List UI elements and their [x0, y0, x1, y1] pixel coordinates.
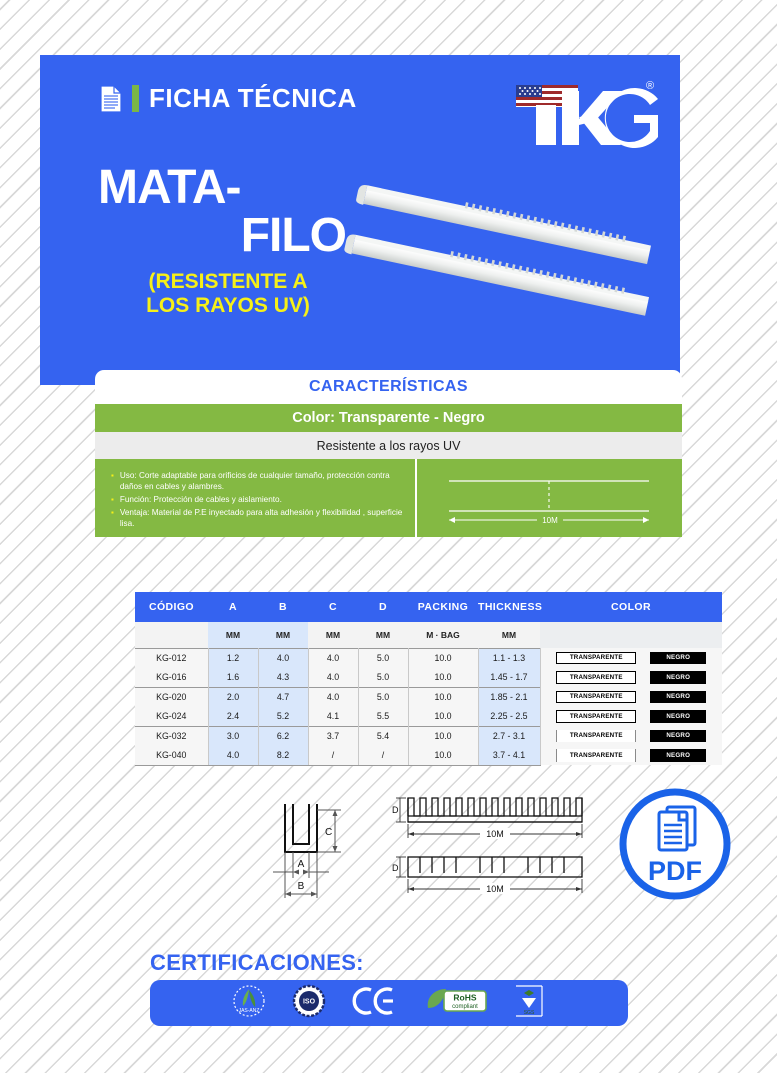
cell-b: 5.2 [258, 707, 308, 727]
cell-b: 8.2 [258, 746, 308, 766]
profile-diagram-bottom: D 10M [380, 847, 610, 907]
certifications-bar: JAS-ANZ ISO RoHS compliant [150, 980, 628, 1026]
cell-thickness: 1.45 - 1.7 [478, 668, 540, 688]
col-header-d: D [358, 592, 408, 622]
cell-codigo: KG-020 [135, 687, 208, 707]
cell-b: 4.3 [258, 668, 308, 688]
hero-section: FICHA TÉCNICA [40, 55, 680, 385]
list-item: ▪ Ventaja: Material de P.E inyectado par… [111, 507, 405, 530]
rohs-label-top: RoHS [453, 992, 476, 1002]
svg-text:JAS-ANZ: JAS-ANZ [239, 1008, 260, 1014]
cross-section-diagram: C A B [265, 790, 375, 910]
cell-d: 5.0 [358, 668, 408, 688]
label-a: A [298, 859, 305, 870]
unit-color [540, 622, 722, 648]
cell-codigo: KG-040 [135, 746, 208, 766]
cell-a: 1.6 [208, 668, 258, 688]
label-length: 10M [486, 884, 504, 894]
col-header-b: B [258, 592, 308, 622]
jas-anz-icon: JAS-ANZ [232, 984, 266, 1023]
cell-b: 4.7 [258, 687, 308, 707]
badge-transparente: TRANSPARENTE [556, 671, 636, 684]
cell-c: / [308, 746, 358, 766]
list-item: ▪ Uso: Corte adaptable para orificios de… [111, 470, 405, 493]
col-header-color: COLOR [540, 592, 722, 622]
cell-a: 2.4 [208, 707, 258, 727]
cell-packing: 10.0 [408, 746, 478, 766]
badge-negro: NEGRO [650, 749, 706, 762]
specs-table-wrapper: CÓDIGO A B C D PACKING THICKNESS COLOR M… [135, 592, 722, 766]
cell-b: 4.0 [258, 648, 308, 668]
cell-d: / [358, 746, 408, 766]
cell-d: 5.0 [358, 648, 408, 668]
feature-text: Ventaja: Material de P.E inyectado para … [120, 507, 405, 530]
profile-diagram-top: D 10M [380, 790, 610, 850]
product-title-line1: MATA- [98, 165, 368, 211]
label-d: D [392, 863, 399, 873]
cell-c: 4.0 [308, 687, 358, 707]
cell-color: TRANSPARENTE NEGRO [540, 746, 722, 766]
cell-a: 1.2 [208, 648, 258, 668]
length-diagram: 10M [417, 459, 682, 537]
product-title-line2: FILO [98, 213, 368, 259]
cell-color: TRANSPARENTE NEGRO [540, 726, 722, 746]
cell-color: TRANSPARENTE NEGRO [540, 707, 722, 727]
cell-color: TRANSPARENTE NEGRO [540, 687, 722, 707]
bullet-icon: ▪ [111, 507, 114, 530]
product-title-block: MATA- FILO (RESISTENTE A LOS RAYOS UV) [98, 165, 368, 317]
header-row: FICHA TÉCNICA [100, 83, 357, 114]
badge-transparente: TRANSPARENTE [556, 749, 636, 762]
table-row: KG-040 4.0 8.2 / / 10.0 3.7 - 4.1 TRANSP… [135, 746, 722, 766]
cell-packing: 10.0 [408, 668, 478, 688]
cell-thickness: 2.25 - 2.5 [478, 707, 540, 727]
tkg-logo: ® [500, 75, 660, 155]
cell-codigo: KG-032 [135, 726, 208, 746]
iso-icon: ISO [292, 984, 326, 1023]
unit-c: MM [308, 622, 358, 648]
caracteristicas-body: ▪ Uso: Corte adaptable para orificios de… [95, 459, 682, 537]
table-group-3: KG-032 3.0 6.2 3.7 5.4 10.0 2.7 - 3.1 TR… [135, 726, 722, 765]
caracteristicas-section: CARACTERÍSTICAS Color: Transparente - Ne… [95, 370, 682, 537]
sheet-type-label: FICHA TÉCNICA [149, 83, 357, 114]
bullet-icon: ▪ [111, 470, 114, 493]
unit-d: MM [358, 622, 408, 648]
cell-thickness: 2.7 - 3.1 [478, 726, 540, 746]
cell-packing: 10.0 [408, 726, 478, 746]
technical-diagrams: C A B [135, 785, 722, 915]
cell-c: 3.7 [308, 726, 358, 746]
cell-c: 4.0 [308, 668, 358, 688]
svg-text:®: ® [646, 80, 654, 92]
diagram-length-label: 10M [542, 516, 558, 525]
units-row: MM MM MM MM M · BAG MM [135, 622, 722, 648]
cell-a: 4.0 [208, 746, 258, 766]
cell-c: 4.0 [308, 648, 358, 668]
col-header-packing: PACKING [408, 592, 478, 622]
unit-a: MM [208, 622, 258, 648]
color-band: Color: Transparente - Negro [95, 404, 682, 432]
label-d: D [392, 805, 399, 815]
badge-transparente: TRANSPARENTE [556, 710, 636, 723]
table-header-row: CÓDIGO A B C D PACKING THICKNESS COLOR [135, 592, 722, 622]
cell-thickness: 1.85 - 2.1 [478, 687, 540, 707]
cell-codigo: KG-012 [135, 648, 208, 668]
quality-check-icon: SGS [514, 984, 546, 1023]
unit-packing: M · BAG [408, 622, 478, 648]
cell-packing: 10.0 [408, 687, 478, 707]
ce-icon [352, 984, 398, 1023]
cell-d: 5.4 [358, 726, 408, 746]
product-subtitle-line1: (RESISTENTE A [98, 270, 368, 294]
cell-c: 4.1 [308, 707, 358, 727]
cell-d: 5.0 [358, 687, 408, 707]
badge-negro: NEGRO [650, 671, 706, 684]
svg-text:SGS: SGS [524, 1010, 535, 1016]
pdf-download-badge[interactable]: PDF [615, 785, 735, 903]
table-row: KG-024 2.4 5.2 4.1 5.5 10.0 2.25 - 2.5 T… [135, 707, 722, 727]
badge-negro: NEGRO [650, 652, 706, 665]
cell-thickness: 3.7 - 4.1 [478, 746, 540, 766]
badge-negro: NEGRO [650, 691, 706, 704]
table-row: KG-032 3.0 6.2 3.7 5.4 10.0 2.7 - 3.1 TR… [135, 726, 722, 746]
col-header-c: C [308, 592, 358, 622]
datasheet-page: FICHA TÉCNICA [40, 55, 737, 1045]
label-c: C [325, 827, 332, 838]
cell-d: 5.5 [358, 707, 408, 727]
feature-text: Uso: Corte adaptable para orificios de c… [120, 470, 405, 493]
unit-b: MM [258, 622, 308, 648]
specs-table: CÓDIGO A B C D PACKING THICKNESS COLOR M… [135, 592, 722, 766]
table-group-1: KG-012 1.2 4.0 4.0 5.0 10.0 1.1 - 1.3 TR… [135, 648, 722, 687]
cell-packing: 10.0 [408, 707, 478, 727]
pdf-document-icon [659, 807, 695, 850]
cell-color: TRANSPARENTE NEGRO [540, 668, 722, 688]
label-b: B [298, 881, 305, 892]
badge-transparente: TRANSPARENTE [556, 691, 636, 704]
accent-bar [132, 85, 139, 112]
cell-a: 3.0 [208, 726, 258, 746]
table-row: KG-020 2.0 4.7 4.0 5.0 10.0 1.85 - 2.1 T… [135, 687, 722, 707]
label-length: 10M [486, 829, 504, 839]
cell-b: 6.2 [258, 726, 308, 746]
badge-transparente: TRANSPARENTE [556, 730, 636, 743]
col-header-thickness: THICKNESS [478, 592, 540, 622]
pdf-label: PDF [648, 856, 702, 886]
document-icon [100, 85, 122, 113]
table-row: KG-016 1.6 4.3 4.0 5.0 10.0 1.45 - 1.7 T… [135, 668, 722, 688]
rohs-label-bottom: compliant [452, 1004, 478, 1010]
product-photo [340, 175, 670, 350]
table-units-row: MM MM MM MM M · BAG MM [135, 622, 722, 648]
cell-a: 2.0 [208, 687, 258, 707]
product-subtitle-line2: LOS RAYOS UV) [98, 294, 368, 318]
badge-negro: NEGRO [650, 710, 706, 723]
feature-text: Función: Protección de cables y aislamie… [120, 494, 282, 506]
col-header-codigo: CÓDIGO [135, 592, 208, 622]
svg-text:ISO: ISO [303, 998, 316, 1005]
unit-codigo [135, 622, 208, 648]
table-head: CÓDIGO A B C D PACKING THICKNESS COLOR [135, 592, 722, 622]
cell-packing: 10.0 [408, 648, 478, 668]
badge-transparente: TRANSPARENTE [556, 652, 636, 665]
list-item: ▪ Función: Protección de cables y aislam… [111, 494, 405, 506]
bullet-icon: ▪ [111, 494, 114, 506]
table-group-2: KG-020 2.0 4.7 4.0 5.0 10.0 1.85 - 2.1 T… [135, 687, 722, 726]
uv-band: Resistente a los rayos UV [95, 432, 682, 459]
certifications-title: CERTIFICACIONES: [150, 950, 364, 976]
cell-codigo: KG-016 [135, 668, 208, 688]
cell-codigo: KG-024 [135, 707, 208, 727]
cell-thickness: 1.1 - 1.3 [478, 648, 540, 668]
rohs-icon: RoHS compliant [424, 986, 488, 1021]
caracteristicas-heading: CARACTERÍSTICAS [95, 370, 682, 404]
table-row: KG-012 1.2 4.0 4.0 5.0 10.0 1.1 - 1.3 TR… [135, 648, 722, 668]
badge-negro: NEGRO [650, 730, 706, 743]
features-list: ▪ Uso: Corte adaptable para orificios de… [95, 459, 417, 537]
col-header-a: A [208, 592, 258, 622]
cell-color: TRANSPARENTE NEGRO [540, 648, 722, 668]
unit-thickness: MM [478, 622, 540, 648]
